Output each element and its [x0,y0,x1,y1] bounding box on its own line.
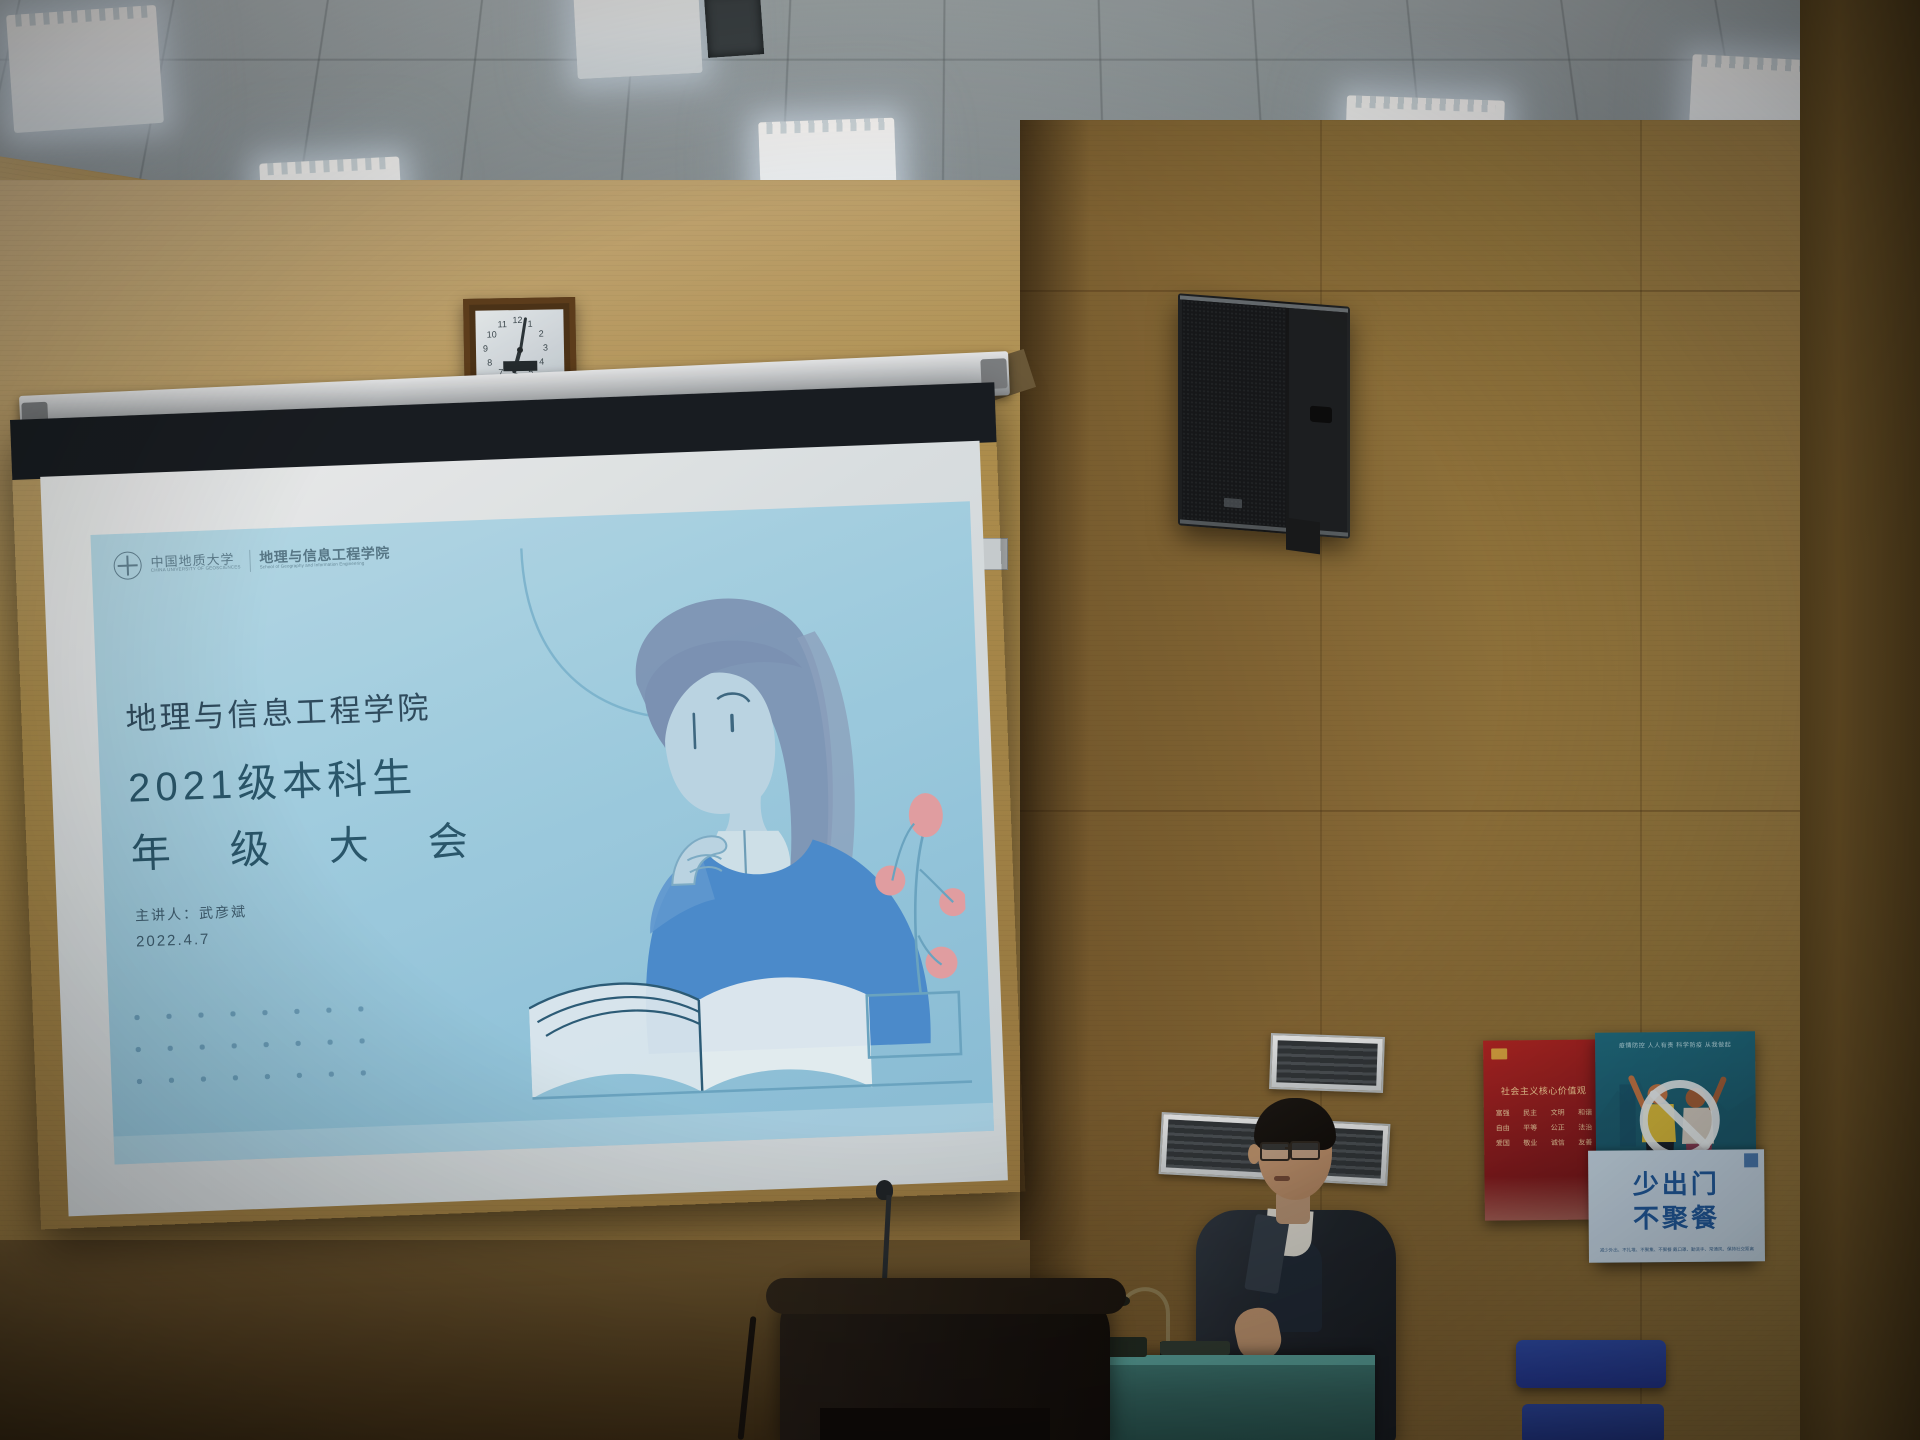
stacking-chair [1516,1340,1666,1440]
clock-numeral: 10 [487,329,497,339]
core-value-item: 法治 [1572,1122,1598,1132]
clock-center-pin [517,347,523,353]
presenter-glasses-bridge [1285,1147,1292,1149]
university-seal-icon [113,551,142,580]
clock-numeral: 8 [487,357,492,367]
core-value-item: 和谐 [1572,1107,1598,1117]
emblem-icon [1491,1048,1507,1059]
core-value-item: 自由 [1490,1123,1516,1133]
pa-speaker-mount-bracket [1286,518,1320,555]
chair-backrest [1516,1340,1666,1388]
slide-title-line2: 2021级本科生 [127,745,418,814]
slide-title-line3: 年 级 大 会 [130,808,493,880]
covid-prevention-poster: 疫情防控 人人有责 科学防疫 从我做起 少出门 不聚餐 减少外出、不扎堆、不 [1595,1031,1757,1262]
school-name: 地理与信息工程学院 School of Geography and Inform… [259,546,390,570]
vent-slats [1276,1040,1377,1085]
far-right-wall-column [1800,0,1920,1440]
presenter-ear [1248,1144,1260,1164]
wall-mounted-pa-speaker [1178,293,1350,539]
podium-top-edge [766,1278,1126,1314]
lectern-podium [780,1288,1110,1440]
clock-numeral: 9 [483,344,488,354]
ceiling-light-2 [572,0,702,79]
core-value-item: 爱国 [1490,1138,1516,1148]
podium-body [820,1408,1050,1440]
logo-divider [249,550,251,572]
slide-date: 2022.4.7 [136,931,211,951]
right-wall [1020,120,1920,1440]
clock-numeral: 11 [497,319,507,329]
presenter-glasses-left-lens [1260,1142,1290,1161]
presentation-slide: 中国地质大学 CHINA UNIVERSITY OF GEOSCIENCES 地… [90,501,994,1164]
red-poster-values: 富强民主文明和谐自由平等公正法治爱国敬业诚信友善 [1490,1107,1598,1148]
slide-dot-pattern [120,993,374,1099]
av-remote-control [1160,1341,1230,1355]
socialist-core-values-poster: 社会主义核心价值观 富强民主文明和谐自由平等公正法治爱国敬业诚信友善 [1483,1039,1605,1220]
university-name: 中国地质大学 CHINA UNIVERSITY OF GEOSCIENCES [150,552,241,574]
slide-title-line1: 地理与信息工程学院 [125,682,433,739]
pa-speaker-grille [1182,300,1286,528]
lecture-hall-photo: 121234567891011 中国地质大学 CHINA UNIVERSITY … [0,0,1920,1440]
university-name-en: CHINA UNIVERSITY OF GEOSCIENCES [151,566,241,574]
core-value-item: 敬业 [1518,1138,1544,1148]
wall-corner-shadow [1020,120,1090,1440]
clock-numeral: 1 [527,319,532,329]
ceiling-air-vent [704,0,764,58]
core-value-item: 文明 [1545,1108,1571,1118]
blue-poster-line1: 少出门 [1588,1163,1764,1202]
core-value-item: 富强 [1490,1108,1516,1118]
blue-poster-header: 疫情防控 人人有责 科学防疫 从我做起 [1595,1039,1755,1049]
wall-vent-upper [1269,1033,1385,1093]
blue-poster-line2: 不聚餐 [1588,1197,1764,1236]
projection-screen: 中国地质大学 CHINA UNIVERSITY OF GEOSCIENCES 地… [10,382,1025,1229]
slide-logo: 中国地质大学 CHINA UNIVERSITY OF GEOSCIENCES 地… [113,542,390,581]
clock-numeral: 3 [543,343,548,353]
clock-numeral: 12 [512,315,522,325]
clock-numeral: 4 [539,357,544,367]
clock-brand-plate [503,361,537,372]
pa-speaker-handle [1310,406,1332,424]
presenter-glasses-right-lens [1290,1141,1320,1160]
woman-reading-book-illustration [511,522,974,1138]
ceiling-light-1 [6,5,164,133]
blue-poster-subtext: 减少外出、不扎堆、不聚集、不聚餐 戴口罩、勤洗手、常通风、保持社交距离 [1589,1246,1765,1254]
chair-seat [1522,1404,1664,1440]
presenter-mouth [1274,1176,1290,1181]
red-poster-title: 社会主义核心价值观 [1484,1083,1604,1097]
clock-numeral: 2 [539,329,544,339]
core-value-item: 平等 [1517,1123,1543,1133]
pa-speaker-badge [1224,498,1242,508]
screen-surface: 中国地质大学 CHINA UNIVERSITY OF GEOSCIENCES 地… [40,441,1008,1217]
core-value-item: 民主 [1517,1108,1543,1118]
blue-poster-banner: 少出门 不聚餐 减少外出、不扎堆、不聚集、不聚餐 戴口罩、勤洗手、常通风、保持社… [1588,1149,1765,1263]
core-value-item: 诚信 [1545,1138,1571,1148]
core-value-item: 友善 [1573,1137,1599,1147]
core-value-item: 公正 [1545,1123,1571,1133]
slide-presenter: 主讲人：武彦斌 [135,901,248,925]
